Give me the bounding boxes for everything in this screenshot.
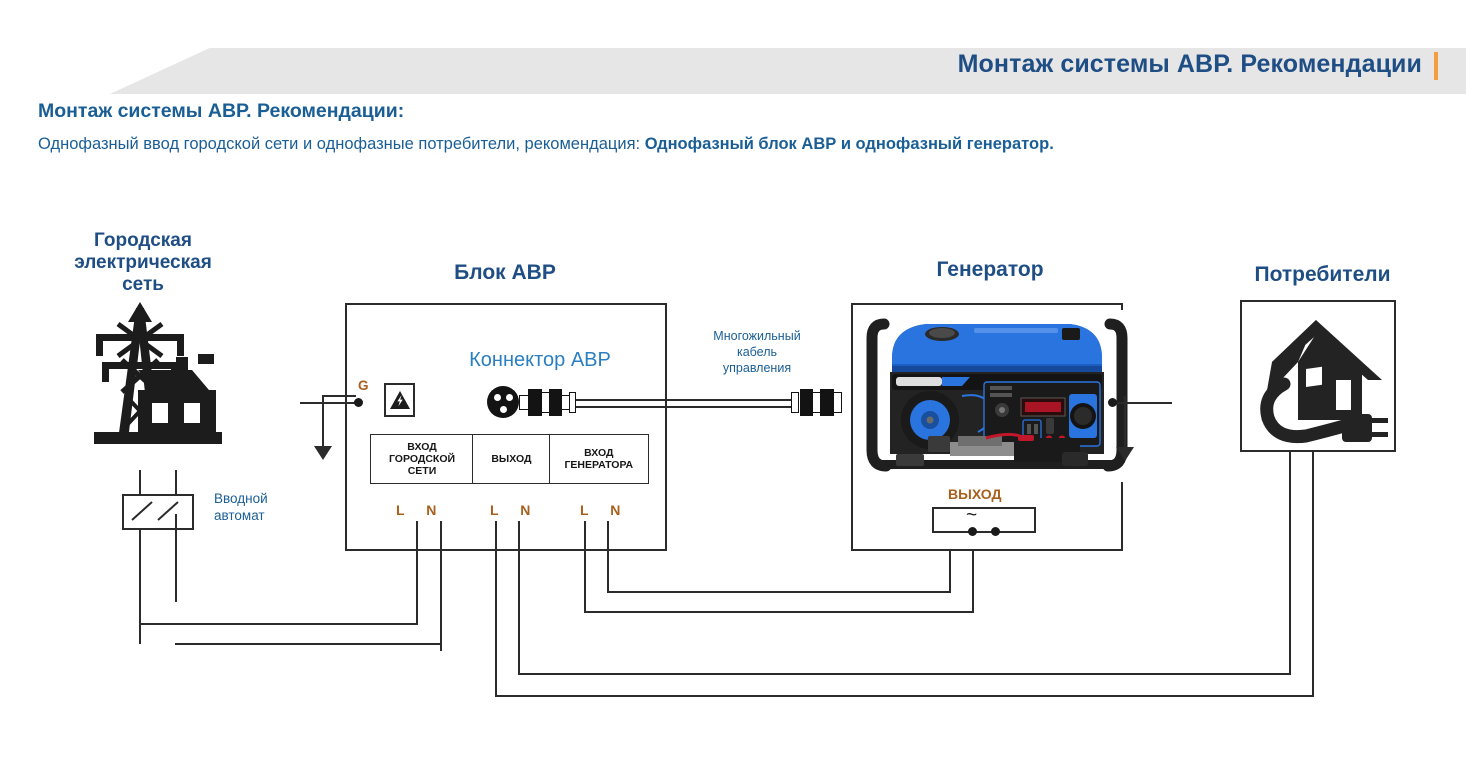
intro-plain-text: Однофазный ввод городской сети и однофаз… <box>38 135 645 153</box>
wire-out-n <box>518 521 520 675</box>
wire-gen-n-run <box>607 591 950 593</box>
terminal-generator-input: ВХОД ГЕНЕРАТОРА <box>549 434 649 484</box>
header-title: Монтаж системы АВР. Рекомендации <box>958 50 1422 79</box>
cable-plug-ferrule <box>791 392 799 413</box>
wire-consumer-l-run <box>495 695 1314 697</box>
control-cable-label: Многожильный кабель управления <box>677 328 837 376</box>
ln-labels-output: L N <box>490 502 539 518</box>
control-cable-top <box>576 399 794 401</box>
section-heading-city-grid: Городская электрическая сеть <box>18 230 268 296</box>
power-pylon-house-icon <box>80 300 250 470</box>
intro-description: Однофазный ввод городской сети и однофаз… <box>38 131 1368 157</box>
terminal-output-label: ВЫХОД <box>491 453 531 465</box>
wire-ground-drop <box>322 395 324 449</box>
cable-plug-end <box>820 389 834 416</box>
three-pin-connector-icon <box>487 386 519 418</box>
wire-gen-n <box>607 521 609 593</box>
ground-terminal-label: G <box>358 378 369 393</box>
breaker-switch-symbols <box>122 494 194 530</box>
generator-ground-arrow-icon <box>1116 447 1134 461</box>
wire-breaker-out-n <box>175 514 177 602</box>
wire-gen-ground-drop <box>1124 396 1126 450</box>
terminal-output: ВЫХОД <box>472 434 550 484</box>
wire-ground-bend <box>322 395 356 397</box>
section-heading-generator: Генератор <box>880 259 1100 281</box>
ln-labels-generator-input: L N <box>580 502 629 518</box>
ac-symbol: ~ <box>966 505 977 527</box>
wire-city-n-return <box>175 643 441 645</box>
generator-output-label: ВЫХОД <box>948 486 1001 502</box>
breaker-label: Вводной автомат <box>214 490 300 524</box>
generator-ac-output-box <box>932 507 1036 533</box>
wire-consumer-l-drop <box>1312 452 1314 697</box>
wire-consumer-n-drop <box>1289 452 1291 675</box>
ats-wiring-diagram-slide: Монтаж системы АВР. Рекомендации Монтаж … <box>0 0 1466 780</box>
wire-city-l-corner <box>139 601 141 625</box>
high-voltage-warning-icon <box>384 383 415 417</box>
terminal-city-input-label: ВХОД ГОРОДСКОЙ СЕТИ <box>389 441 455 477</box>
wire-breaker-out-l <box>139 528 141 644</box>
wire-gen-l-run <box>584 611 974 613</box>
cable-plug-tip <box>833 392 842 413</box>
intro-bold-text: Однофазный блок АВР и однофазный генерат… <box>645 135 1054 153</box>
ats-connector-label: Коннектор АВР <box>430 352 650 369</box>
generator-output-dot-l <box>968 527 977 536</box>
ln-labels-city-input: L N <box>396 502 445 518</box>
terminal-generator-input-label: ВХОД ГЕНЕРАТОРА <box>564 447 633 471</box>
wire-city-n <box>440 521 442 651</box>
wire-consumer-n-run <box>518 673 1291 675</box>
ground-arrow-icon <box>314 446 332 460</box>
wire-city-l <box>416 521 418 625</box>
section-heading-consumers: Потребители <box>1215 264 1430 286</box>
ground-terminal-dot <box>354 398 363 407</box>
generator-ground-dot <box>1108 398 1117 407</box>
wire-city-l-return <box>139 623 417 625</box>
terminal-city-input: ВХОД ГОРОДСКОЙ СЕТИ <box>370 434 474 484</box>
wire-out-l <box>495 521 497 697</box>
consumers-box <box>1240 300 1396 452</box>
generator-photo <box>866 310 1128 482</box>
section-heading-ats-block: Блок АВР <box>400 262 610 284</box>
header-accent-bar <box>1434 52 1438 80</box>
wire-gen-l <box>584 521 586 613</box>
wire-ground-in <box>300 402 362 404</box>
control-cable-bottom <box>576 406 794 408</box>
generator-output-dot-n <box>991 527 1000 536</box>
page-title: Монтаж системы АВР. Рекомендации: <box>38 100 404 123</box>
ats-terminal-strip: ВХОД ГОРОДСКОЙ СЕТИ ВЫХОД ВХОД ГЕНЕРАТОР… <box>370 434 647 484</box>
wire-gen-ground-in <box>1112 402 1172 404</box>
